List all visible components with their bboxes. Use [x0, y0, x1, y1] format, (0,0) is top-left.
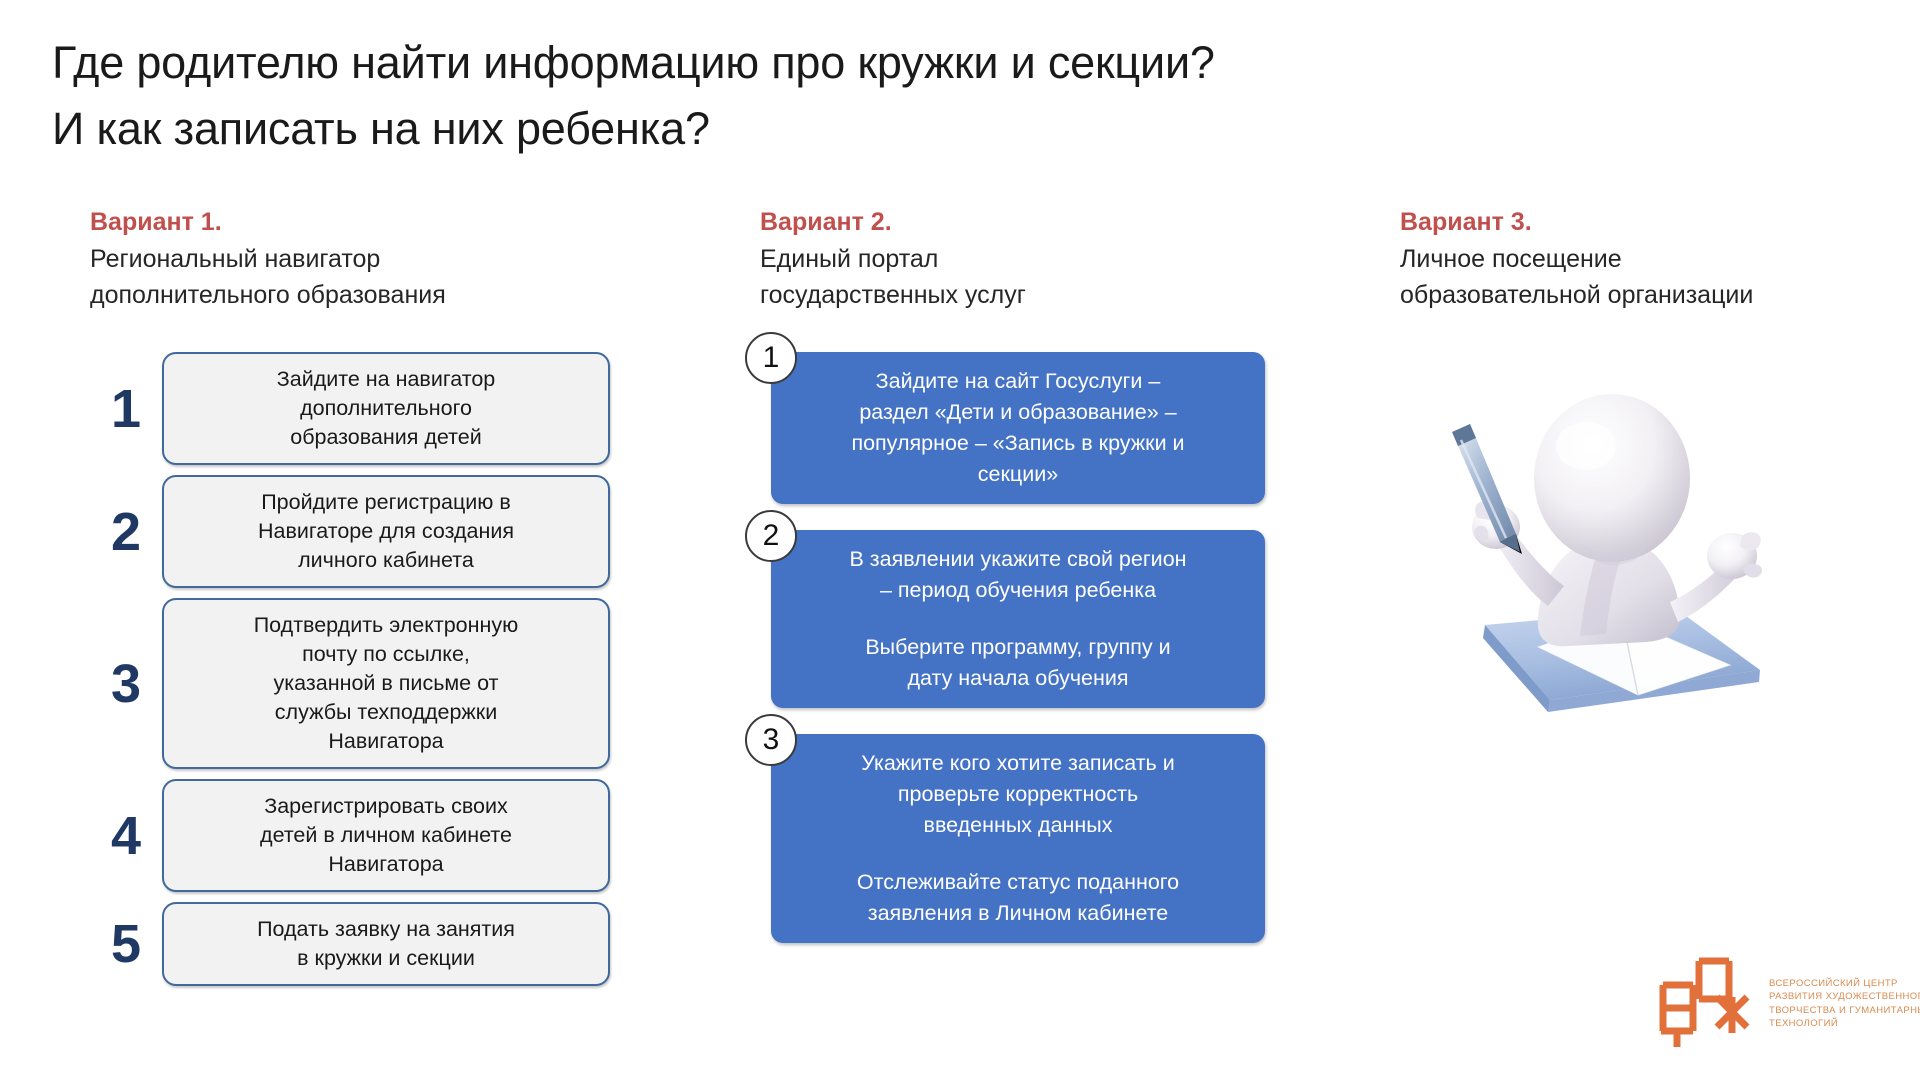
step-number-circle: 3 — [745, 714, 797, 766]
right-arm-shape — [1670, 532, 1762, 622]
paragraph-gap — [789, 841, 1247, 867]
step-text-line: Подтвердить электронную — [178, 611, 594, 640]
step-text-line: дату начала обучения — [789, 663, 1247, 694]
slide: Где родителю найти информацию про кружки… — [0, 0, 1920, 1080]
step-text-line: Пройдите регистрацию в — [178, 488, 594, 517]
step-box[interactable]: Зайдите на навигатор дополнительного обр… — [162, 352, 610, 465]
step-text-line: образования детей — [178, 423, 594, 452]
card-step-3: 3 Укажите кого хотите записать и проверь… — [745, 734, 1265, 943]
step-text-line: указанной в письме от — [178, 669, 594, 698]
step-text-line: Зайдите на сайт Госуслуги – — [789, 366, 1247, 397]
step-text-line: детей в личном кабинете — [178, 821, 594, 850]
step-text-line: Выберите программу, группу и — [789, 632, 1247, 663]
variant-label-1: Вариант 1. — [90, 205, 590, 239]
step-box[interactable]: Зарегистрировать своих детей в личном ка… — [162, 779, 610, 892]
card-step-1: 1 Зайдите на сайт Госуслуги – раздел «Де… — [745, 352, 1265, 504]
step-text-line: В заявлении укажите свой регион — [789, 544, 1247, 575]
logo-text: Всероссийский центр развития художествен… — [1769, 977, 1920, 1031]
step-number-circle: 2 — [745, 510, 797, 562]
step-text-line: дополнительного — [178, 394, 594, 423]
logo-text-line: творчества и гуманитарных — [1769, 1004, 1920, 1018]
vchct-monogram-icon — [1655, 955, 1755, 1052]
step-box[interactable]: Пройдите регистрацию в Навигаторе для со… — [162, 475, 610, 588]
step-card[interactable]: Укажите кого хотите записать и проверьте… — [771, 734, 1265, 943]
step-row: 3 Подтвердить электронную почту по ссылк… — [90, 598, 610, 769]
variant-desc-1-line-2: дополнительного образования — [90, 277, 590, 313]
step-number-circle: 1 — [745, 332, 797, 384]
step-text-line: введенных данных — [789, 810, 1247, 841]
variant-desc-2-line-1: Единый портал — [760, 241, 1260, 277]
step-text-line: – период обучения ребенка — [789, 575, 1247, 606]
variant-label-3: Вариант 3. — [1400, 205, 1900, 239]
step-number: 2 — [90, 505, 162, 559]
column-heading-variant-2: Вариант 2. Единый портал государственных… — [760, 205, 1260, 313]
step-box[interactable]: Подтвердить электронную почту по ссылке,… — [162, 598, 610, 769]
step-text-line: почту по ссылке, — [178, 640, 594, 669]
variant-1-step-list: 1 Зайдите на навигатор дополнительного о… — [90, 352, 610, 996]
logo-text-line: Всероссийский центр — [1769, 977, 1920, 991]
column-heading-variant-1: Вариант 1. Региональный навигатор дополн… — [90, 205, 590, 313]
step-text-line: раздел «Дети и образование» – — [789, 397, 1247, 428]
step-text-line: Отслеживайте статус поданного — [789, 867, 1247, 898]
step-text-line: в кружки и секции — [178, 944, 594, 973]
paragraph-gap — [789, 606, 1247, 632]
step-text-line: заявления в Личном кабинете — [789, 898, 1247, 929]
variant-desc-3-line-1: Личное посещение — [1400, 241, 1900, 277]
step-row: 1 Зайдите на навигатор дополнительного о… — [90, 352, 610, 465]
step-number: 4 — [90, 809, 162, 863]
variant-desc-2-line-2: государственных услуг — [760, 277, 1260, 313]
variant-desc-3-line-2: образовательной организации — [1400, 277, 1900, 313]
variant-desc-1-line-1: Региональный навигатор — [90, 241, 590, 277]
column-heading-variant-3: Вариант 3. Личное посещение образователь… — [1400, 205, 1900, 313]
step-box[interactable]: Подать заявку на занятия в кружки и секц… — [162, 902, 610, 986]
title-line-2: И как записать на них ребенка? — [52, 96, 1752, 162]
step-text-line: Подать заявку на занятия — [178, 915, 594, 944]
step-row: 2 Пройдите регистрацию в Навигаторе для … — [90, 475, 610, 588]
step-text-line: службы техподдержки — [178, 698, 594, 727]
step-card[interactable]: В заявлении укажите свой регион – период… — [771, 530, 1265, 708]
step-text-line: проверьте корректность — [789, 779, 1247, 810]
step-row: 5 Подать заявку на занятия в кружки и се… — [90, 902, 610, 986]
step-number: 3 — [90, 657, 162, 711]
variant-2-step-list: 1 Зайдите на сайт Госуслуги – раздел «Де… — [745, 352, 1265, 969]
step-number: 1 — [90, 382, 162, 436]
card-step-2: 2 В заявлении укажите свой регион – пери… — [745, 530, 1265, 708]
page-title: Где родителю найти информацию про кружки… — [52, 30, 1752, 162]
step-text-line: Навигаторе для создания — [178, 517, 594, 546]
logo-text-line: технологий — [1769, 1017, 1920, 1031]
logo-text-line: развития художественного — [1769, 990, 1920, 1004]
step-text-line: Зарегистрировать своих — [178, 792, 594, 821]
person-with-pen-and-document-illustration — [1430, 370, 1770, 760]
step-text-line: Навигатора — [178, 727, 594, 756]
organization-logo: Всероссийский центр развития художествен… — [1655, 955, 1920, 1052]
step-text-line: секции» — [789, 459, 1247, 490]
step-number: 5 — [90, 917, 162, 971]
step-text-line: Зайдите на навигатор — [178, 365, 594, 394]
step-text-line: Укажите кого хотите записать и — [789, 748, 1247, 779]
title-line-1: Где родителю найти информацию про кружки… — [52, 30, 1752, 96]
head-shape — [1534, 394, 1690, 565]
step-text-line: Навигатора — [178, 850, 594, 879]
step-row: 4 Зарегистрировать своих детей в личном … — [90, 779, 610, 892]
step-text-line: личного кабинета — [178, 546, 594, 575]
step-card[interactable]: Зайдите на сайт Госуслуги – раздел «Дети… — [771, 352, 1265, 504]
variant-label-2: Вариант 2. — [760, 205, 1260, 239]
step-text-line: популярное – «Запись в кружки и — [789, 428, 1247, 459]
